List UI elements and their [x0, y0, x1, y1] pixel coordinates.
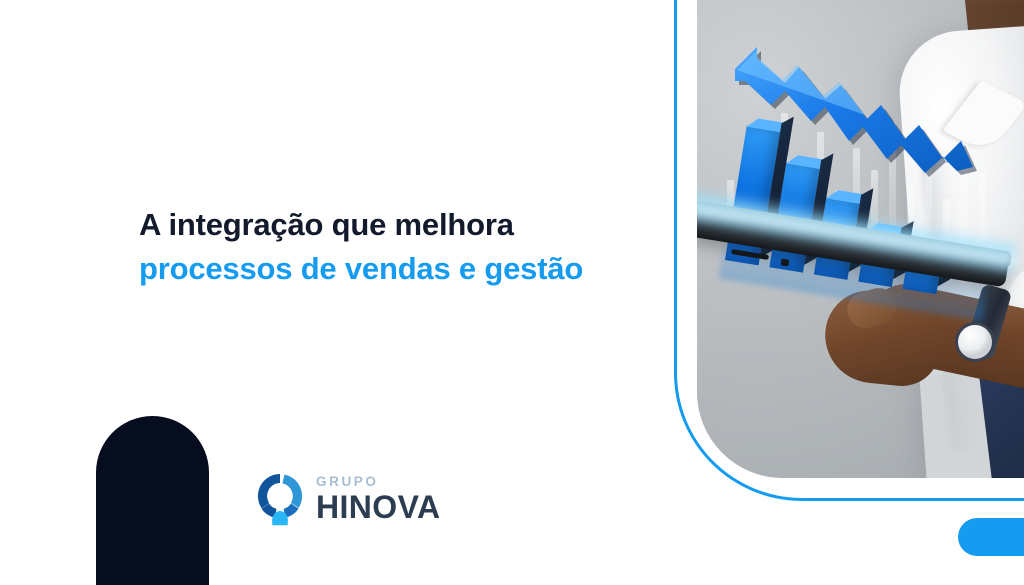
- headline-line-2: processos de vendas e gestão: [139, 247, 659, 291]
- slide-canvas: A integração que melhora processos de ve…: [0, 0, 1024, 585]
- hinova-ring-person-icon: [255, 471, 305, 527]
- blue-rounded-pill: [958, 518, 1024, 556]
- brand-logo: GRUPO HINOVA: [255, 471, 440, 527]
- headline-line-1: A integração que melhora: [139, 203, 659, 247]
- dark-rounded-pillar: [96, 416, 209, 585]
- brand-eyebrow: GRUPO: [316, 475, 440, 489]
- tablet-port: [780, 258, 789, 266]
- brand-name: HINOVA: [316, 491, 440, 523]
- hero-photo: [697, 0, 1024, 478]
- wristwatch-face: [955, 322, 995, 362]
- page-title: A integração que melhora processos de ve…: [139, 203, 659, 291]
- brand-wordmark: GRUPO HINOVA: [316, 475, 440, 524]
